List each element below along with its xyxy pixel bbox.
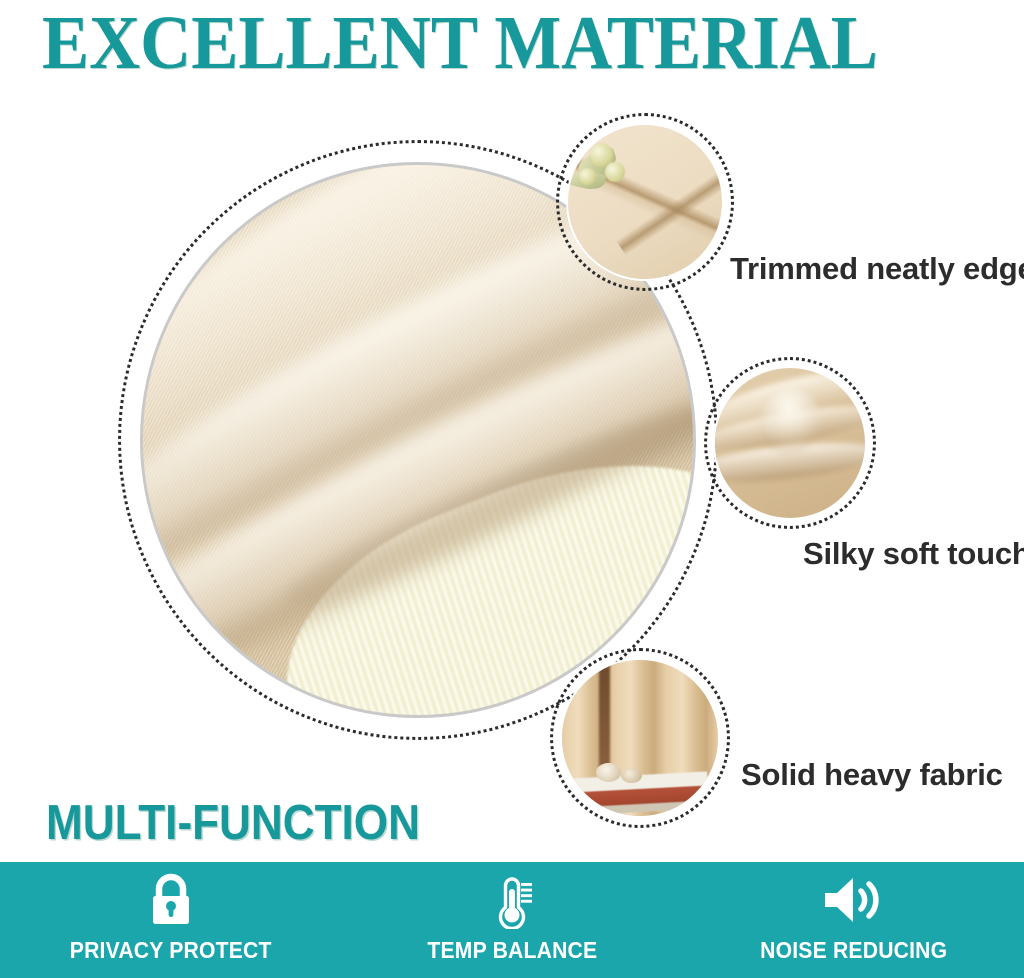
callout-ring-silky-touch (704, 357, 876, 529)
feature-temp-balance: TEMP BALANCE (362, 862, 662, 963)
section-title-multi-function: MULTI-FUNCTION (46, 796, 420, 850)
feature-privacy-protect: PRIVACY PROTECT (21, 862, 321, 963)
page-title: EXCELLENT MATERIAL (42, 2, 935, 84)
lock-icon (144, 872, 198, 928)
feature-bar: PRIVACY PROTECT TEMP BALANCE (0, 862, 1024, 978)
feature-noise-reducing: NOISE REDUCING (703, 862, 1003, 963)
product-infographic: EXCELLENT MATERIAL Trimmed neatly edge S… (0, 0, 1024, 978)
callout-ring-solid-fabric (550, 648, 730, 828)
feature-label-noise-reducing: NOISE REDUCING (760, 937, 947, 963)
callout-label-silky-touch: Silky soft touch (803, 536, 1024, 572)
thermometer-icon (486, 872, 538, 928)
feature-label-privacy-protect: PRIVACY PROTECT (70, 937, 272, 963)
feature-label-temp-balance: TEMP BALANCE (427, 937, 597, 963)
callout-label-solid-fabric: Solid heavy fabric (741, 757, 1003, 793)
callout-label-trimmed-edge: Trimmed neatly edge (730, 251, 1024, 287)
callout-ring-trimmed-edge (556, 113, 734, 291)
speaker-icon (819, 872, 887, 928)
